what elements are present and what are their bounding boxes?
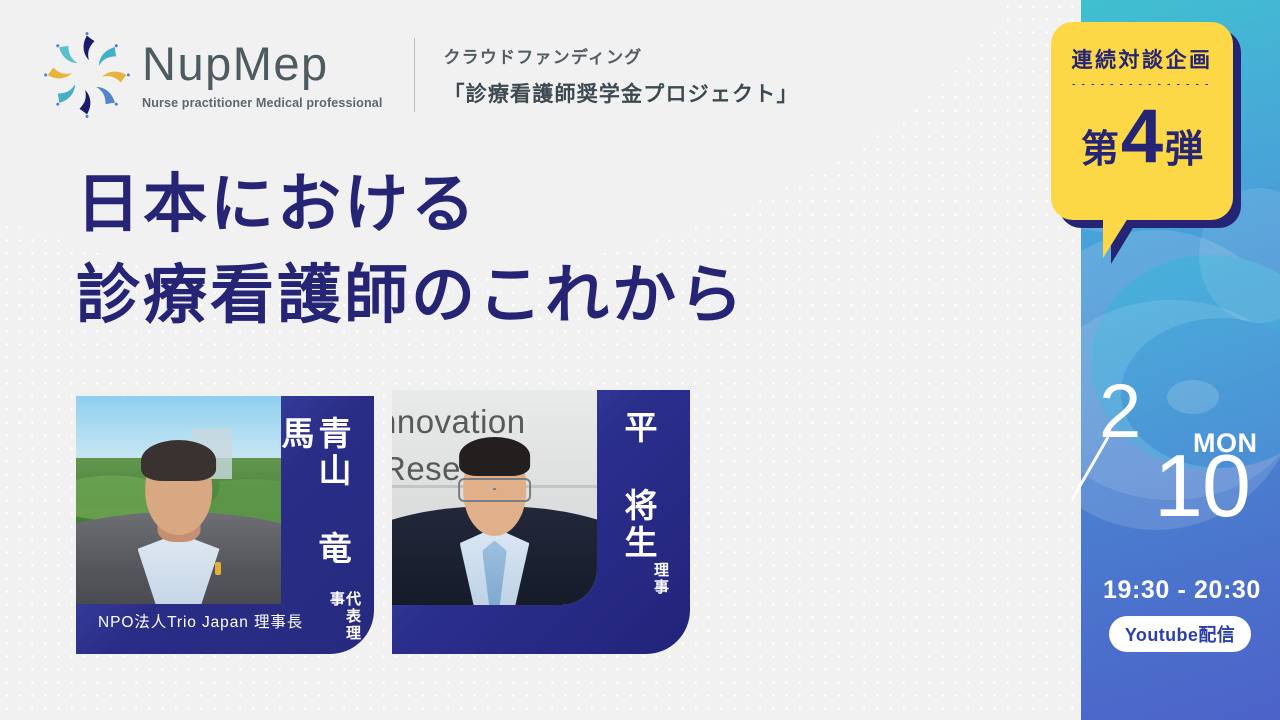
speaker-name: 平 将生 xyxy=(619,410,656,562)
event-time: 19:30 - 20:30 xyxy=(1103,576,1261,605)
page-title: 日本における 診療看護師のこれから xyxy=(76,160,746,342)
speaker-role: 代表理事 xyxy=(328,591,360,654)
speaker-name-vertical: 理事 平 将生 xyxy=(619,410,668,596)
event-date-block: 2 MON 10 19:30 - 20:30 Youtube配信 xyxy=(1081,378,1280,528)
badge-episode: 第 4 弾 xyxy=(1081,104,1203,173)
badge-body: 連続対談企画 第 4 弾 xyxy=(1051,22,1233,220)
speaker-photo xyxy=(76,396,281,604)
brand-name: NupMep xyxy=(142,40,382,87)
brand-tagline: Nurse practitioner Medical professional xyxy=(142,96,382,110)
photo-sign-line1: nnovation xyxy=(392,403,526,441)
badge-suffix: 弾 xyxy=(1165,118,1203,173)
date-slash-divider xyxy=(1071,436,1109,500)
event-day: 10 xyxy=(1154,442,1250,530)
nupmep-radial-swoosh-logo-icon xyxy=(40,28,134,122)
badge-dotted-rule xyxy=(1069,83,1215,86)
speaker-photo: nnovation Rese 一棟 xyxy=(392,390,597,605)
speaker-caption: NPO法人Trio Japan 理事長 xyxy=(98,610,303,632)
speaker-card: nnovation Rese 一棟 理事 平 将生 xyxy=(392,390,690,654)
photo-sign-line2: Rese xyxy=(392,450,461,488)
speaker-card: 代表理事 青山 竜馬 NPO法人Trio Japan 理事長 xyxy=(76,396,374,654)
poster-canvas: NupMep Nurse practitioner Medical profes… xyxy=(0,0,1280,720)
platform-badge: Youtube配信 xyxy=(1109,616,1251,652)
speaker-name: 青山 竜馬 xyxy=(276,416,350,591)
page-title-line2: 診療看護師のこれから xyxy=(76,251,746,342)
speaker-role: 理事 xyxy=(652,562,668,596)
badge-number: 4 xyxy=(1121,104,1163,169)
campaign-block: クラウドファンディング 「診療看護師奨学金プロジェクト」 xyxy=(443,43,798,108)
brand-lockup: NupMep Nurse practitioner Medical profes… xyxy=(142,40,382,110)
header-divider xyxy=(414,38,415,112)
header: NupMep Nurse practitioner Medical profes… xyxy=(40,28,799,122)
series-badge: 連続対談企画 第 4 弾 xyxy=(1051,22,1241,254)
campaign-title: 「診療看護師奨学金プロジェクト」 xyxy=(443,78,798,108)
badge-prefix: 第 xyxy=(1081,118,1119,173)
campaign-kicker: クラウドファンディング xyxy=(443,43,798,68)
badge-top-label: 連続対談企画 xyxy=(1072,44,1213,74)
page-title-line1: 日本における xyxy=(76,169,478,240)
